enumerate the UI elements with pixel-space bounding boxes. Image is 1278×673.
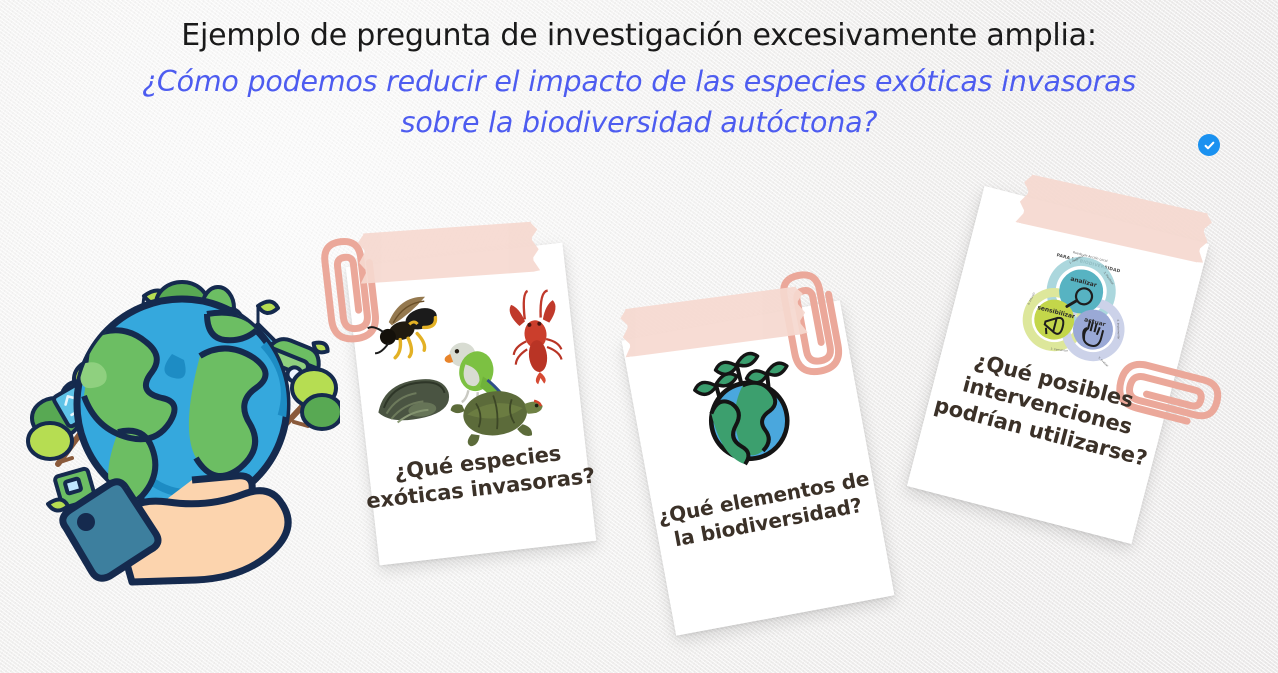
check-icon bbox=[1203, 139, 1216, 152]
slide-canvas: Ejemplo de pregunta de investigación exc… bbox=[0, 0, 1278, 673]
crayfish bbox=[507, 288, 565, 387]
card-caption-elements: ¿Qué elementos de la biodiversidad? bbox=[638, 463, 893, 558]
wasp bbox=[363, 293, 446, 366]
invasive-species-photos bbox=[355, 271, 579, 461]
zebra-mussel bbox=[375, 376, 451, 424]
hand-holding-eco-globe bbox=[22, 236, 340, 596]
note-card-elements[interactable]: ¿Qué elementos de la biodiversidad? bbox=[622, 300, 895, 635]
svg-text:4. Implementar: 4. Implementar bbox=[1116, 319, 1121, 340]
sprouting-globe-icon bbox=[676, 335, 817, 479]
note-card-species[interactable]: ¿Qué especies exóticas invasoras? bbox=[346, 243, 597, 566]
note-card-interventions[interactable]: Rueda de Acción Local PARA LA BIODIVERSI… bbox=[907, 186, 1209, 544]
research-question: ¿Cómo podemos reducir el impacto de las … bbox=[0, 62, 1278, 143]
verified-check-badge[interactable] bbox=[1198, 134, 1220, 156]
pond-slider-turtle bbox=[449, 386, 546, 448]
heading-block: Ejemplo de pregunta de investigación exc… bbox=[0, 16, 1278, 143]
research-question-line-2: sobre la biodiversidad autóctona? bbox=[401, 106, 878, 139]
washi-tape bbox=[363, 222, 534, 284]
research-question-line-1: ¿Cómo podemos reducir el impacto de las … bbox=[142, 65, 1136, 98]
page-title: Ejemplo de pregunta de investigación exc… bbox=[0, 16, 1278, 56]
